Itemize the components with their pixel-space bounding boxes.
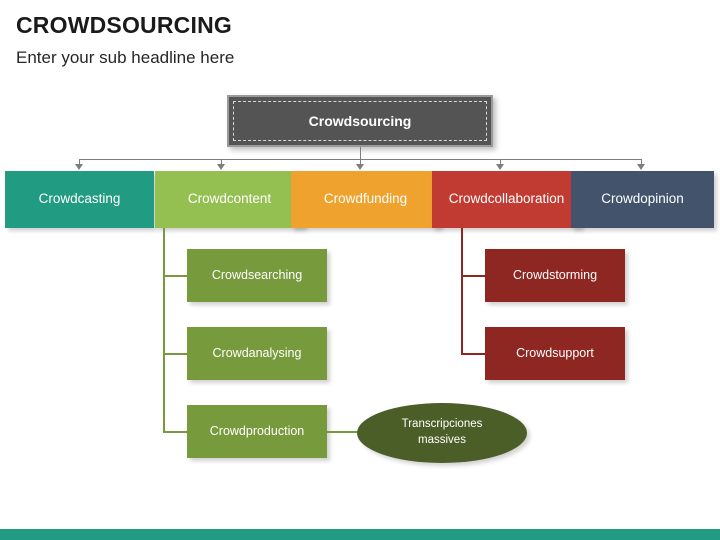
node-crowdcasting[interactable]: Crowdcasting xyxy=(5,171,154,228)
node-label: Crowdcollaboration xyxy=(449,191,565,207)
footer-accent-bar xyxy=(0,529,720,540)
node-transcripciones-massives[interactable]: Transcripciones massives xyxy=(357,403,527,463)
connector-content-to-crowdsearching xyxy=(163,275,187,277)
node-crowdcontent[interactable]: Crowdcontent xyxy=(155,171,304,228)
connector-content-to-crowdproduction xyxy=(163,431,187,433)
slide-canvas: CROWDSOURCING Enter your sub headline he… xyxy=(0,0,720,540)
node-label: Crowdopinion xyxy=(601,191,684,207)
connector-collaboration-to-crowdsupport xyxy=(461,353,485,355)
connector-content-to-crowdanalysing xyxy=(163,353,187,355)
node-label: Crowdsupport xyxy=(516,346,594,361)
node-label: Crowdcasting xyxy=(39,191,121,207)
node-label: Crowdanalysing xyxy=(213,346,302,361)
connector-collaboration-spine xyxy=(461,228,463,355)
node-label: Crowdstorming xyxy=(513,268,597,283)
node-crowdstorming[interactable]: Crowdstorming xyxy=(485,249,625,302)
node-crowdanalysing[interactable]: Crowdanalysing xyxy=(187,327,327,380)
node-crowdopinion[interactable]: Crowdopinion xyxy=(571,171,714,228)
connector-crowdproduction-to-ellipse xyxy=(327,431,361,433)
node-crowdproduction[interactable]: Crowdproduction xyxy=(187,405,327,458)
node-label: Crowdcontent xyxy=(188,191,271,207)
arrow-crowdopinion-icon xyxy=(637,164,645,170)
connector-collaboration-to-crowdstorming xyxy=(461,275,485,277)
node-crowdsearching[interactable]: Crowdsearching xyxy=(187,249,327,302)
page-subtitle: Enter your sub headline here xyxy=(16,48,234,68)
node-label: Crowdsourcing xyxy=(309,113,412,130)
arrow-crowdcontent-icon xyxy=(217,164,225,170)
connector-content-spine xyxy=(163,228,165,433)
arrow-crowdfunding-icon xyxy=(356,164,364,170)
ellipse-label: Transcripciones massives xyxy=(402,417,483,448)
connector-root-stem xyxy=(360,147,361,159)
node-crowdsupport[interactable]: Crowdsupport xyxy=(485,327,625,380)
arrow-crowdcollaboration-icon xyxy=(496,164,504,170)
node-crowdfunding[interactable]: Crowdfunding xyxy=(291,171,440,228)
node-crowdsourcing-root[interactable]: Crowdsourcing xyxy=(227,95,493,147)
page-title: CROWDSOURCING xyxy=(16,12,232,39)
node-label: Crowdfunding xyxy=(324,191,407,207)
node-crowdcollaboration[interactable]: Crowdcollaboration xyxy=(432,171,581,228)
ellipse-label-line2: massives xyxy=(418,434,466,446)
ellipse-label-line1: Transcripciones xyxy=(402,418,483,430)
node-label: Crowdproduction xyxy=(210,424,305,439)
node-label: Crowdsearching xyxy=(212,268,302,283)
arrow-crowdcasting-icon xyxy=(75,164,83,170)
